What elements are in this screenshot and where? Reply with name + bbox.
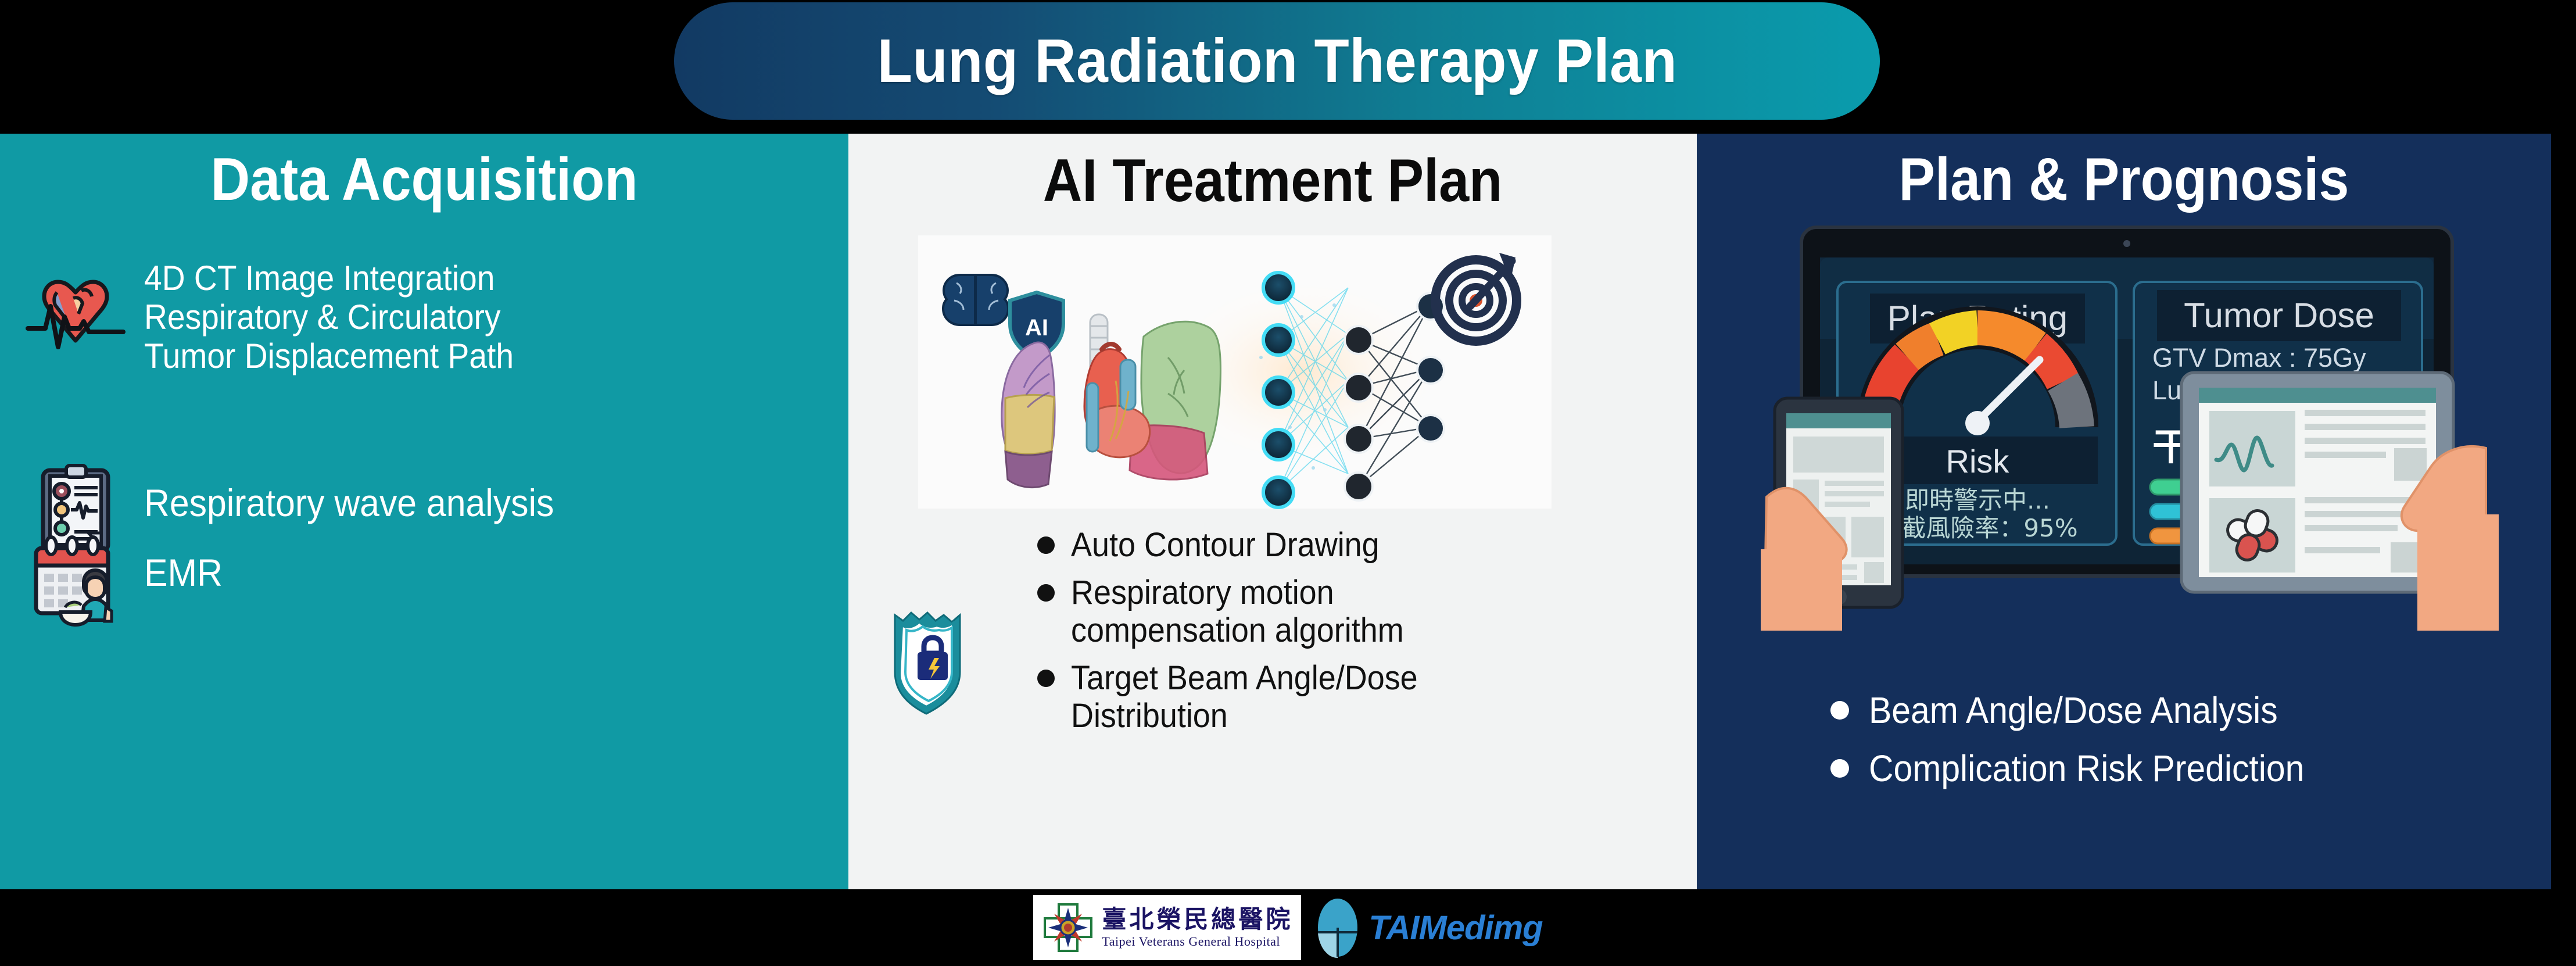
tumor-dose-header: Tumor Dose [2184, 296, 2374, 335]
right-bullet-list: Beam Angle/Dose Analysis Complication Ri… [1830, 689, 2342, 805]
list-item: Respiratory motion compensation algorith… [1037, 574, 1665, 650]
brain-icon [943, 275, 1008, 325]
pills-icon [2209, 498, 2295, 573]
hospital-name-zh: 臺北榮民總醫院 [1102, 907, 1293, 932]
vgh-emblem-icon [1041, 901, 1095, 954]
bullet-text: Complication Risk Prediction [1869, 747, 2304, 790]
tablet-dashboard: Plan Rating Risk 即時警示中... 攔截風險率：95% [1767, 224, 2487, 631]
risk-gauge-label: Risk [1946, 443, 2010, 480]
security-shield-lock-icon [890, 604, 974, 715]
panel-plan-prognosis: Plan & Prognosis Plan Rating [1697, 134, 2551, 889]
bullet-text: Beam Angle/Dose Analysis [1869, 689, 2278, 732]
center-bullet-list: Auto Contour Drawing Respiratory motion … [1037, 526, 1665, 745]
hand-phone-left [1761, 398, 1903, 631]
hand-tablet-right [2181, 373, 2499, 631]
panel-title-right: Plan & Prognosis [1740, 145, 2509, 214]
bullet-dot-icon [1037, 536, 1055, 554]
taimedimg-wordmark: TAIMedimg [1368, 908, 1542, 947]
panel-ai-treatment-plan: AI Treatment Plan [848, 134, 1697, 889]
list-item: Auto Contour Drawing [1037, 526, 1665, 564]
bullet-text: Auto Contour Drawing [1071, 526, 1380, 564]
svg-text:AI: AI [1025, 315, 1048, 341]
taimedimg-mark-icon [1316, 897, 1359, 958]
bullet-dot-icon [1830, 759, 1849, 778]
risk-rate-line: 攔截風險率：95% [1877, 514, 2077, 542]
logo-taimedimg: TAIMedimg [1316, 897, 1542, 958]
title-banner: Lung Radiation Therapy Plan [674, 2, 1880, 120]
list-item: Complication Risk Prediction [1830, 747, 2342, 790]
tumor-metric-0: GTV Dmax : 75Gy [2152, 343, 2366, 373]
panel-data-acquisition: Data Acquisition 4D CT Image Integration… [0, 134, 848, 889]
bullet-dot-icon [1037, 670, 1055, 687]
left-row-emr: EMR [23, 526, 230, 631]
list-item: Target Beam Angle/Dose Distribution [1037, 659, 1665, 735]
bullet-dot-icon [1037, 584, 1055, 602]
logo-taipei-veterans-general-hospital: 臺北榮民總醫院 Taipei Veterans General Hospital [1033, 895, 1301, 960]
panel-title-left: Data Acquisition [42, 145, 806, 214]
lungs-heart-illustration: AI [918, 235, 1552, 509]
infographic-root: Data Acquisition 4D CT Image Integration… [0, 0, 2576, 966]
bullet-text: Respiratory motion compensation algorith… [1071, 574, 1404, 650]
left-row-text: EMR [144, 526, 223, 595]
bullet-text: Target Beam Angle/Dose Distribution [1071, 659, 1418, 735]
bullet-dot-icon [1830, 701, 1849, 720]
risk-status-line: 即時警示中... [1905, 486, 2050, 514]
list-item: Beam Angle/Dose Analysis [1830, 689, 2342, 732]
footer-logos: 臺北榮民總醫院 Taipei Veterans General Hospital… [0, 889, 2576, 966]
calendar-patient-icon [23, 526, 128, 631]
left-row-text: Respiratory wave analysis [144, 456, 554, 525]
ecg-thumbnail [2209, 411, 2295, 486]
hospital-name-en: Taipei Veterans General Hospital [1102, 935, 1293, 948]
panel-title-center: AI Treatment Plan [891, 146, 1654, 216]
page-title: Lung Radiation Therapy Plan [877, 26, 1676, 96]
left-row-4dct: 4D CT Image Integration Respiratory & Ci… [23, 259, 546, 376]
left-row-text: 4D CT Image Integration Respiratory & Ci… [144, 259, 514, 376]
heart-ecg-icon [23, 259, 128, 363]
